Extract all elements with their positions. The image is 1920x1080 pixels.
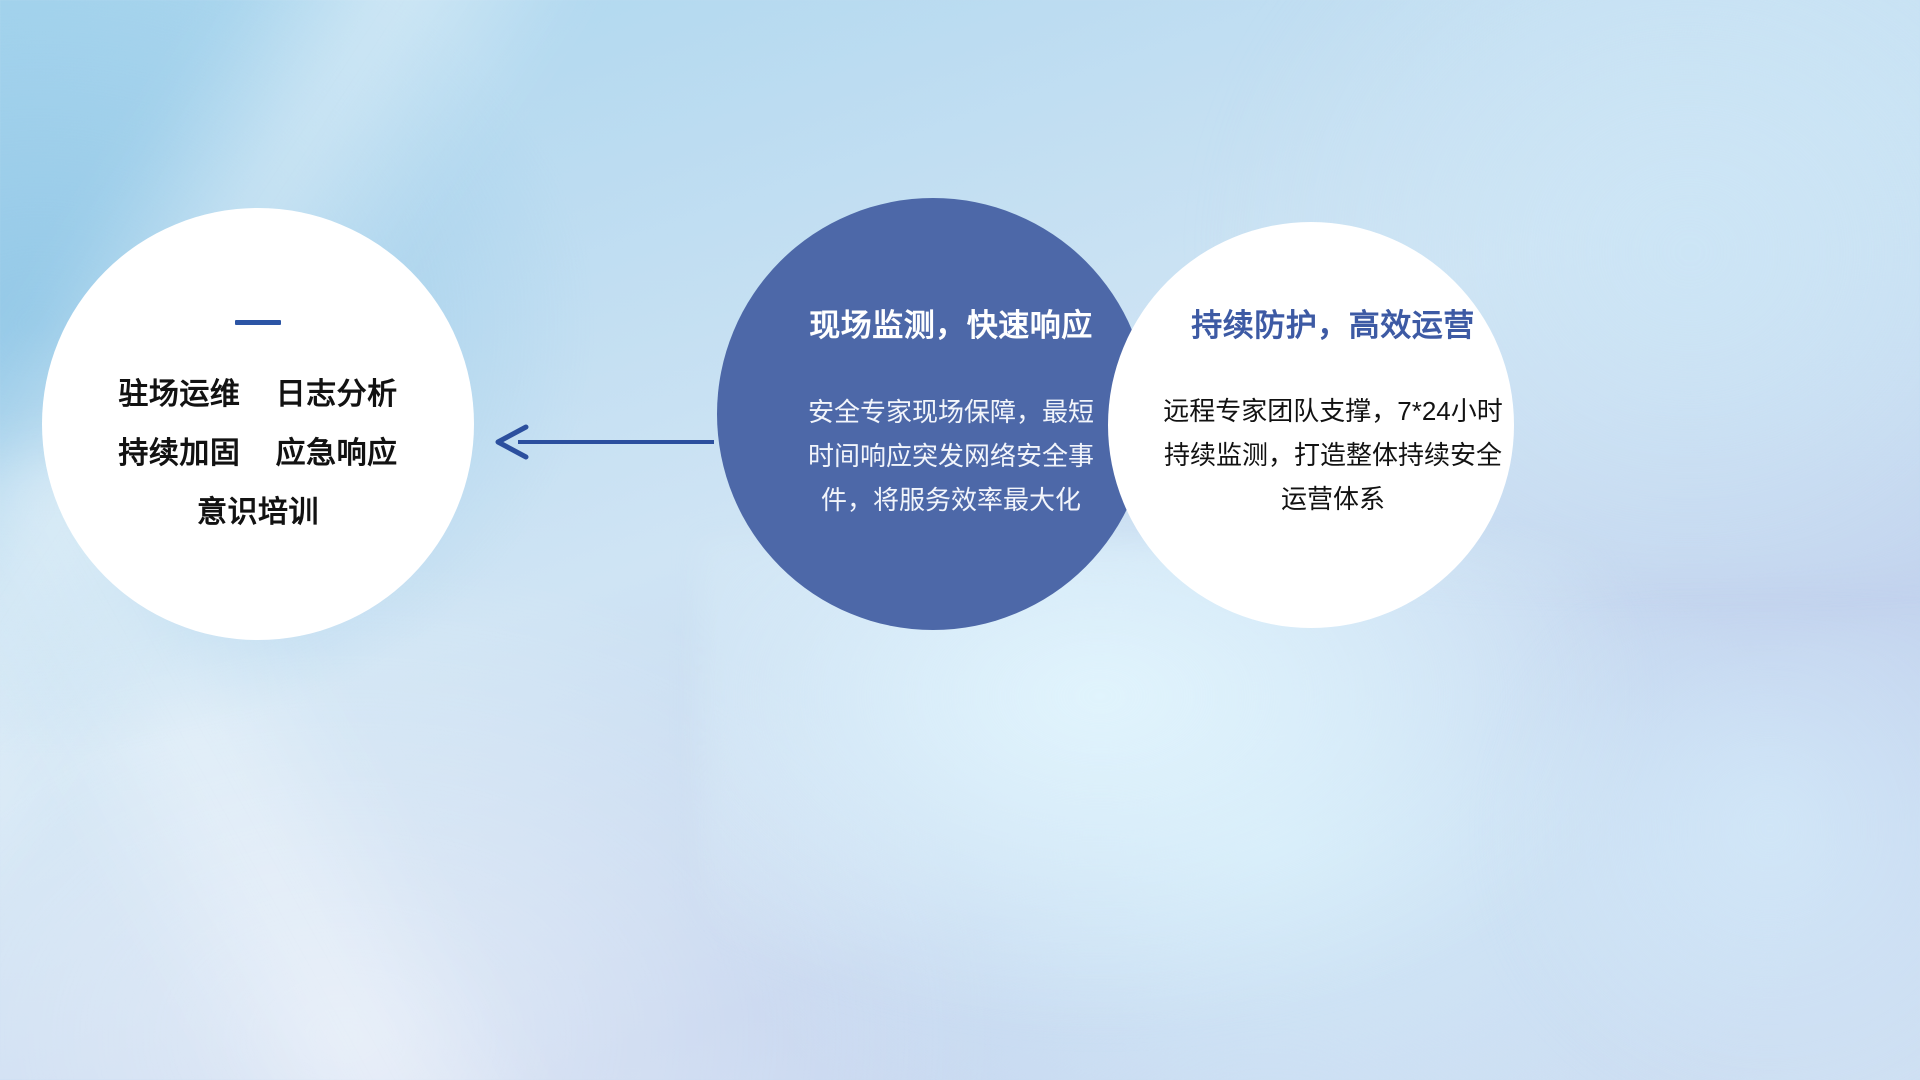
middle-node-title: 现场监测，快速响应 — [809, 300, 1093, 345]
background-glow-bottom-right — [1460, 620, 1920, 1080]
right-node-title: 持续防护，高效运营 — [1191, 300, 1475, 345]
left-service-line-2: 持续加固 应急响应 — [118, 424, 397, 483]
right-node-body: 远程专家团队支撑，7*24小时持续监测，打造整体持续安全运营体系 — [1157, 389, 1509, 521]
middle-node-body: 安全专家现场保障，最短时间响应突发网络安全事件，将服务效率最大化 — [801, 390, 1101, 522]
left-service-line-3: 意识培训 — [118, 483, 397, 542]
flow-arrow — [492, 420, 714, 464]
background-glow-center-bottom — [700, 540, 1700, 1060]
divider-dash-icon — [235, 320, 281, 325]
node-circle-left-services: 驻场运维 日志分析 持续加固 应急响应 意识培训 — [42, 208, 474, 640]
node-circle-right-continuous: 持续防护，高效运营 远程专家团队支撑，7*24小时持续监测，打造整体持续安全运营… — [1108, 222, 1514, 628]
left-service-line-1: 驻场运维 日志分析 — [118, 365, 397, 424]
left-service-list: 驻场运维 日志分析 持续加固 应急响应 意识培训 — [118, 365, 397, 542]
node-circle-middle-onsite: 现场监测，快速响应 安全专家现场保障，最短时间响应突发网络安全事件，将服务效率最… — [717, 198, 1149, 630]
